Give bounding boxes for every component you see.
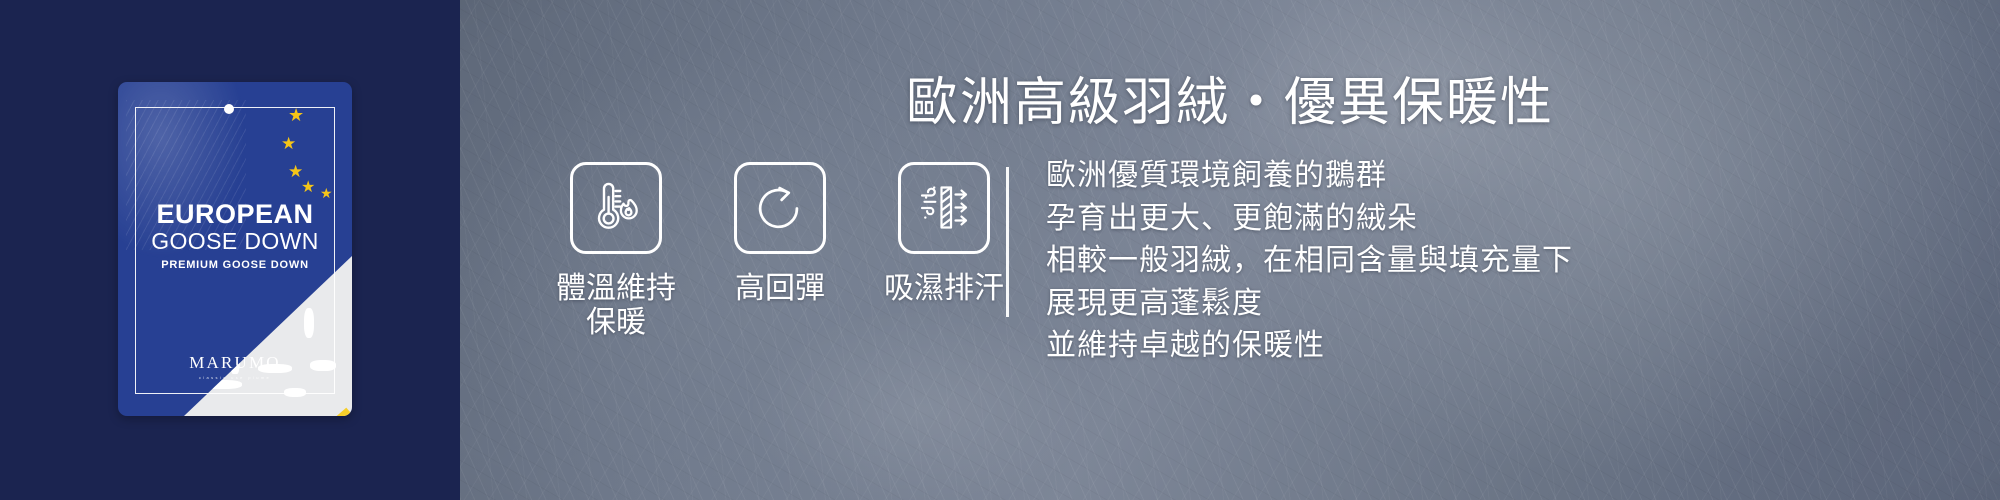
page-title: 歐洲高級羽絨・優異保暖性 (460, 60, 2000, 135)
hangtag-subtitle: GOOSE DOWN (118, 228, 352, 255)
feature-item: 體溫維持 保暖 (546, 162, 686, 339)
hangtag-title: EUROPEAN (118, 199, 352, 230)
description-block: 歐洲優質環境飼養的鵝群 孕育出更大、更飽滿的絨朵 相較一般羽絨，在相同含量與填充… (1046, 155, 1573, 368)
hangtag-tagline: PREMIUM GOOSE DOWN (118, 259, 352, 271)
eu-star-icon: ★ (288, 106, 304, 124)
description-line: 歐洲優質環境飼養的鵝群 (1046, 155, 1573, 198)
feature-label: 吸濕排汗 (884, 272, 1004, 306)
feature-label: 體溫維持 保暖 (556, 272, 676, 339)
moisture-wicking-icon (914, 178, 974, 238)
tag-punch-hole (224, 104, 234, 114)
feature-icon-group: 體溫維持 保暖 高回彈 (540, 162, 1020, 339)
description-line: 並維持卓越的保暖性 (1046, 325, 1573, 368)
brand-name: MARUMO (118, 353, 352, 373)
eu-star-icon: ★ (320, 186, 333, 200)
brand-subtext: classic use plume (118, 375, 352, 380)
icon-frame (898, 162, 990, 254)
description-line: 孕育出更大、更飽滿的絨朵 (1046, 198, 1573, 241)
eu-star-icon: ★ (301, 180, 315, 196)
feature-label: 高回彈 (735, 272, 825, 306)
feature-item: 高回彈 (710, 162, 850, 339)
icon-frame (570, 162, 662, 254)
thermometer-flame-icon (586, 178, 646, 238)
brand-logo: MARUMO classic use plume (118, 353, 352, 380)
icon-frame (734, 162, 826, 254)
eu-star-icon: ★ (288, 163, 303, 180)
description-line: 展現更高蓬鬆度 (1046, 283, 1573, 326)
eu-star-icon: ★ (281, 135, 296, 152)
feature-item: 吸濕排汗 (874, 162, 1014, 339)
vertical-divider (1006, 167, 1009, 317)
left-navy-panel: ★ ★ ★ ★ ★ EUROPEAN GOOSE DOWN PREMIUM GO… (0, 0, 460, 500)
right-feather-panel: 歐洲高級羽絨・優異保暖性 (460, 0, 2000, 500)
product-feature-banner: ★ ★ ★ ★ ★ EUROPEAN GOOSE DOWN PREMIUM GO… (0, 0, 2000, 500)
description-line: 相較一般羽絨，在相同含量與填充量下 (1046, 240, 1573, 283)
rebound-arrow-icon (751, 179, 809, 237)
european-goose-down-hangtag: ★ ★ ★ ★ ★ EUROPEAN GOOSE DOWN PREMIUM GO… (118, 82, 352, 416)
